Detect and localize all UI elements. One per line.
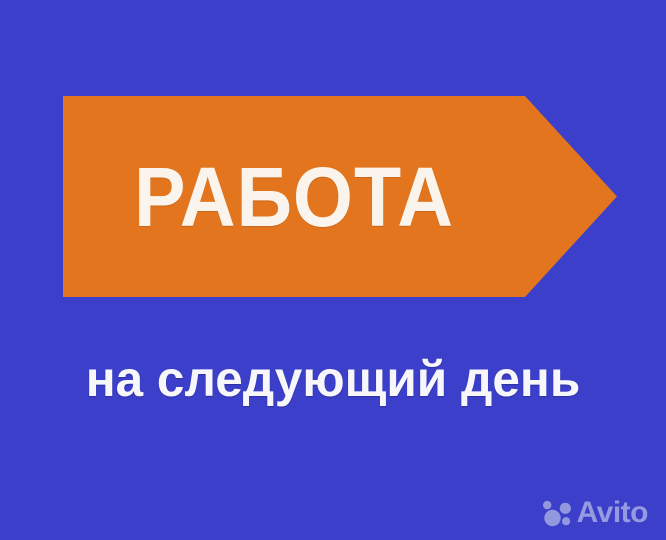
avito-watermark: Avito xyxy=(542,498,648,528)
avito-wordmark: Avito xyxy=(577,498,648,528)
poster-canvas: РАБОТА на следующий день Avito xyxy=(0,0,666,540)
subheadline-text: на следующий день xyxy=(3,348,662,410)
avito-logo-icon xyxy=(542,500,572,527)
arrow-banner-label: РАБОТА xyxy=(81,96,506,297)
arrow-banner: РАБОТА xyxy=(63,96,617,297)
